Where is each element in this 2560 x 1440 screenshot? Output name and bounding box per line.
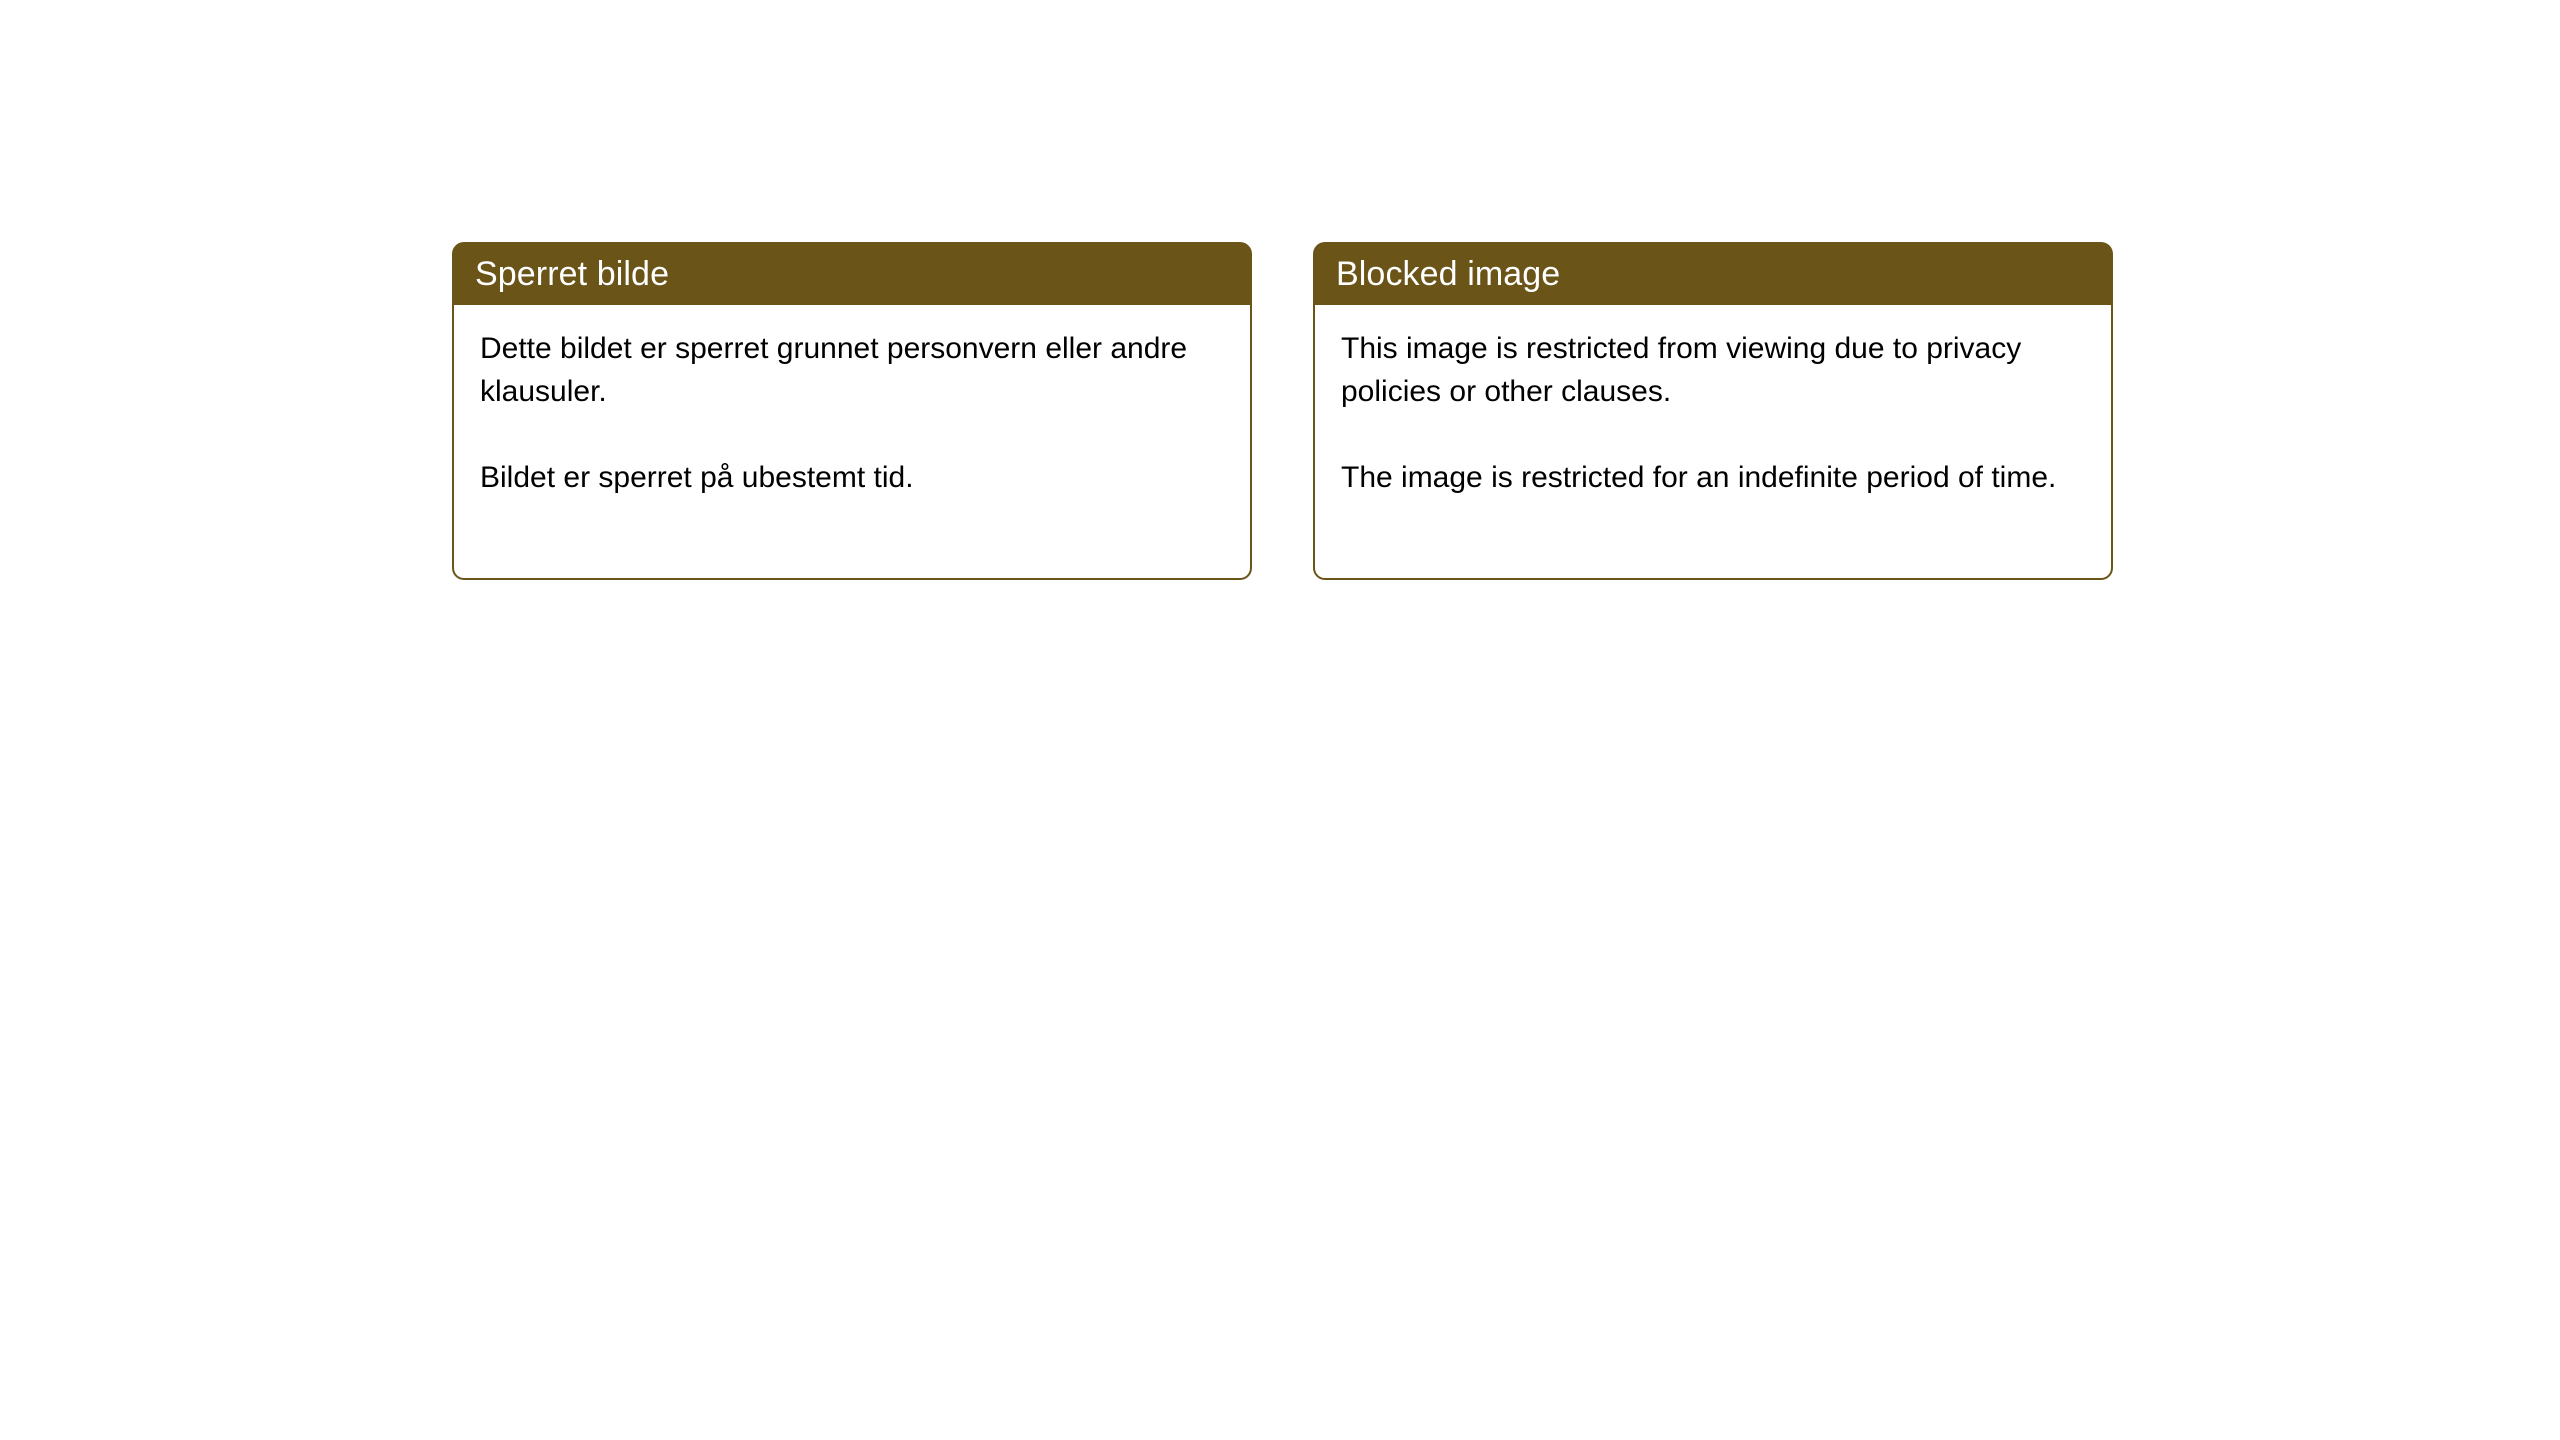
card-title-english: Blocked image — [1336, 257, 1560, 291]
blocked-image-notice-card-english: Blocked image This image is restricted f… — [1313, 242, 2113, 580]
card-header-norwegian: Sperret bilde — [452, 242, 1252, 305]
card-paragraph-duration-norwegian: Bildet er sperret på ubestemt tid. — [480, 456, 1200, 499]
card-paragraph-privacy-english: This image is restricted from viewing du… — [1341, 327, 2061, 413]
card-paragraph-privacy-norwegian: Dette bildet er sperret grunnet personve… — [480, 327, 1200, 413]
card-body-english: This image is restricted from viewing du… — [1313, 305, 2113, 580]
card-paragraph-duration-english: The image is restricted for an indefinit… — [1341, 456, 2061, 499]
paragraph-spacer — [1341, 413, 2085, 456]
card-body-norwegian: Dette bildet er sperret grunnet personve… — [452, 305, 1252, 580]
blocked-image-notice-card-norwegian: Sperret bilde Dette bildet er sperret gr… — [452, 242, 1252, 580]
paragraph-spacer — [480, 413, 1224, 456]
card-header-english: Blocked image — [1313, 242, 2113, 305]
card-title-norwegian: Sperret bilde — [475, 257, 669, 291]
page-canvas: Sperret bilde Dette bildet er sperret gr… — [0, 0, 2560, 1440]
